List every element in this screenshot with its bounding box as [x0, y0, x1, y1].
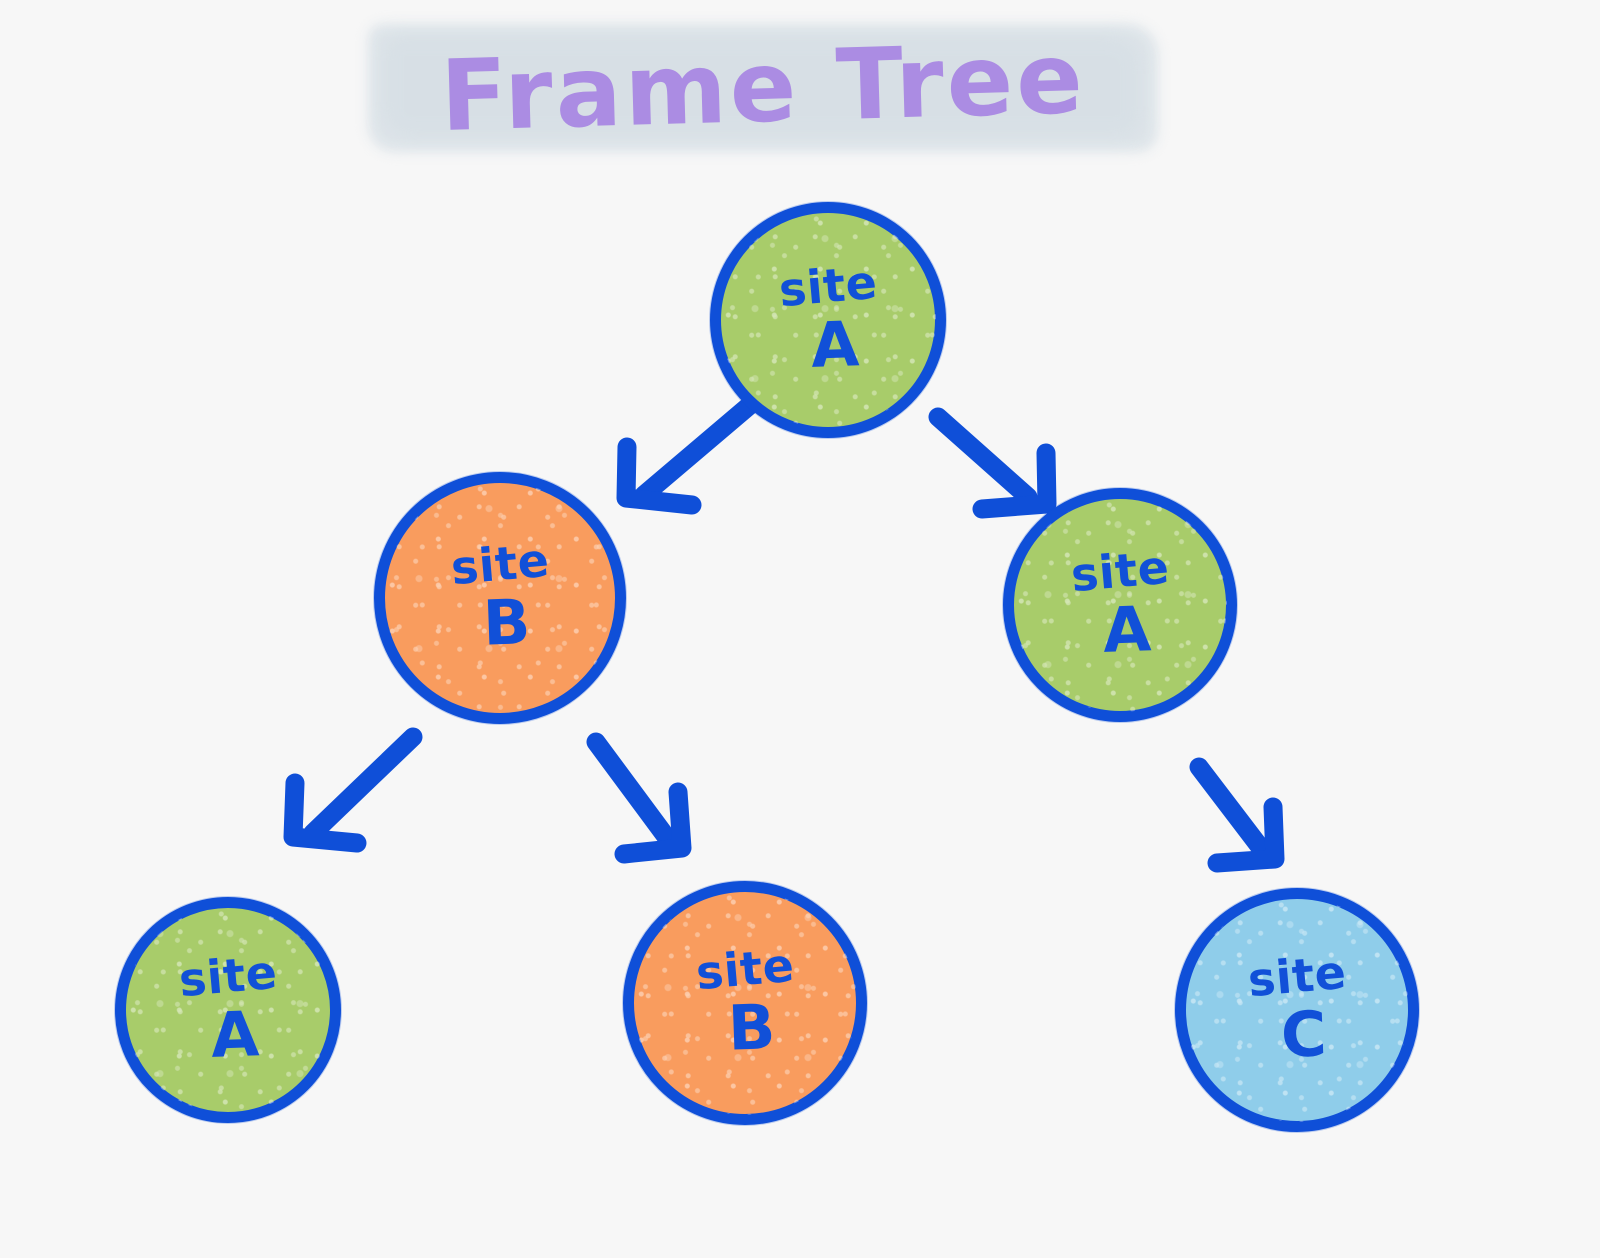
tree-node-a3[interactable]: site A: [115, 897, 341, 1123]
tree-node-c1[interactable]: site C: [1175, 888, 1419, 1132]
node-site-word: site: [694, 943, 796, 996]
tree-node-root[interactable]: site A: [710, 202, 946, 438]
tree-node-b1[interactable]: site B: [374, 472, 626, 724]
node-site-letter: A: [810, 314, 860, 376]
node-site-word: site: [177, 950, 279, 1003]
node-site-word: site: [449, 538, 551, 591]
edge-arrow-b1-to-a3: [265, 725, 465, 860]
page-title-text: Frame Tree: [366, 7, 1160, 169]
edge-arrow-a2-to-c1: [1185, 755, 1315, 885]
node-site-letter: A: [210, 1004, 260, 1066]
tree-node-b2[interactable]: site B: [623, 881, 867, 1125]
edge-arrow-b1-to-b2: [578, 730, 718, 875]
node-site-letter: A: [1102, 599, 1152, 661]
node-site-letter: B: [727, 997, 776, 1059]
node-site-letter: B: [482, 592, 531, 654]
diagram-canvas: Frame Tree: [0, 0, 1600, 1258]
node-site-word: site: [1069, 545, 1171, 598]
tree-node-a2[interactable]: site A: [1003, 488, 1237, 722]
node-site-word: site: [777, 260, 879, 313]
node-site-letter: C: [1280, 1004, 1328, 1066]
page-title: Frame Tree: [368, 18, 1158, 158]
node-site-word: site: [1246, 950, 1348, 1003]
